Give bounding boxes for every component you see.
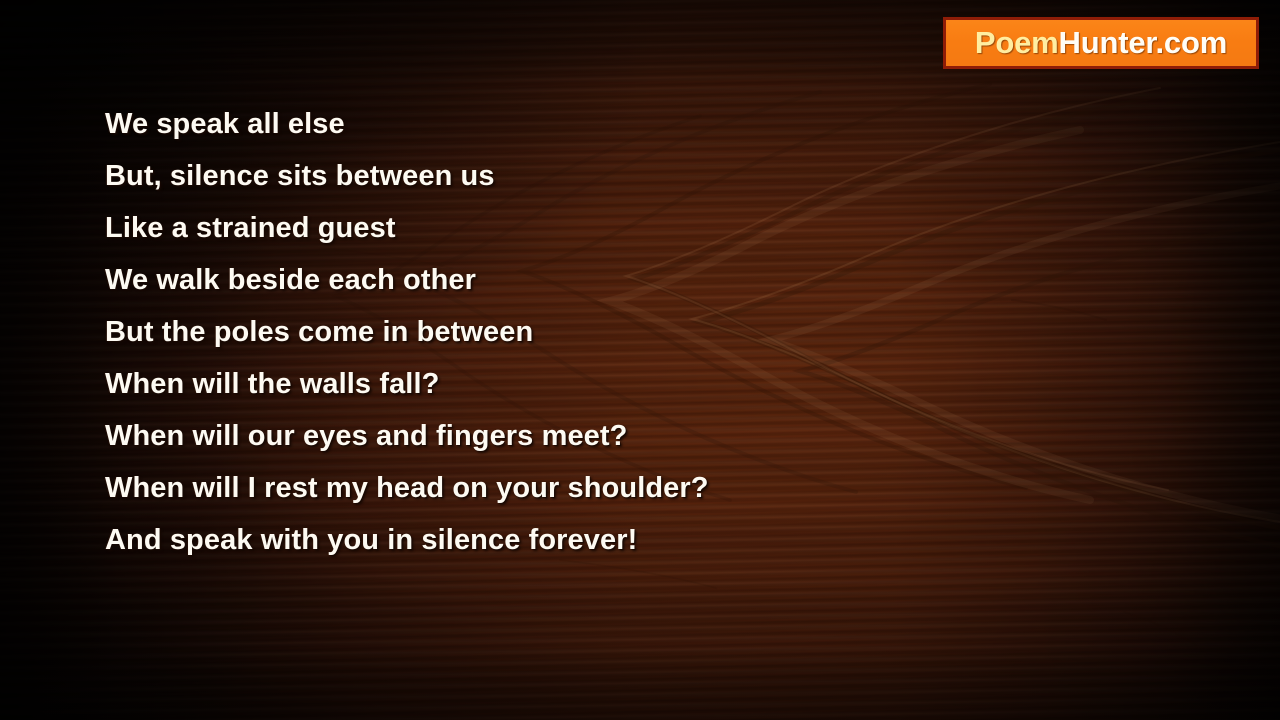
poem-line: When will I rest my head on your shoulde… — [105, 462, 1105, 514]
logo-text-hunter: Hunter.com — [1059, 25, 1228, 60]
poem-line: When will the walls fall? — [105, 358, 1105, 410]
poem-line: We walk beside each other — [105, 254, 1105, 306]
poem-image-stage: PoemHunter.com We speak all else But, si… — [0, 0, 1280, 720]
poem-line: But, silence sits between us — [105, 150, 1105, 202]
poemhunter-logo[interactable]: PoemHunter.com — [943, 17, 1259, 69]
poem-line: And speak with you in silence forever! — [105, 514, 1105, 566]
poem-text-block: We speak all else But, silence sits betw… — [105, 98, 1105, 566]
poemhunter-logo-text: PoemHunter.com — [975, 27, 1227, 60]
logo-text-poem: Poem — [975, 25, 1059, 60]
poem-line: Like a strained guest — [105, 202, 1105, 254]
poem-line: When will our eyes and fingers meet? — [105, 410, 1105, 462]
poem-line: We speak all else — [105, 98, 1105, 150]
poem-line: But the poles come in between — [105, 306, 1105, 358]
